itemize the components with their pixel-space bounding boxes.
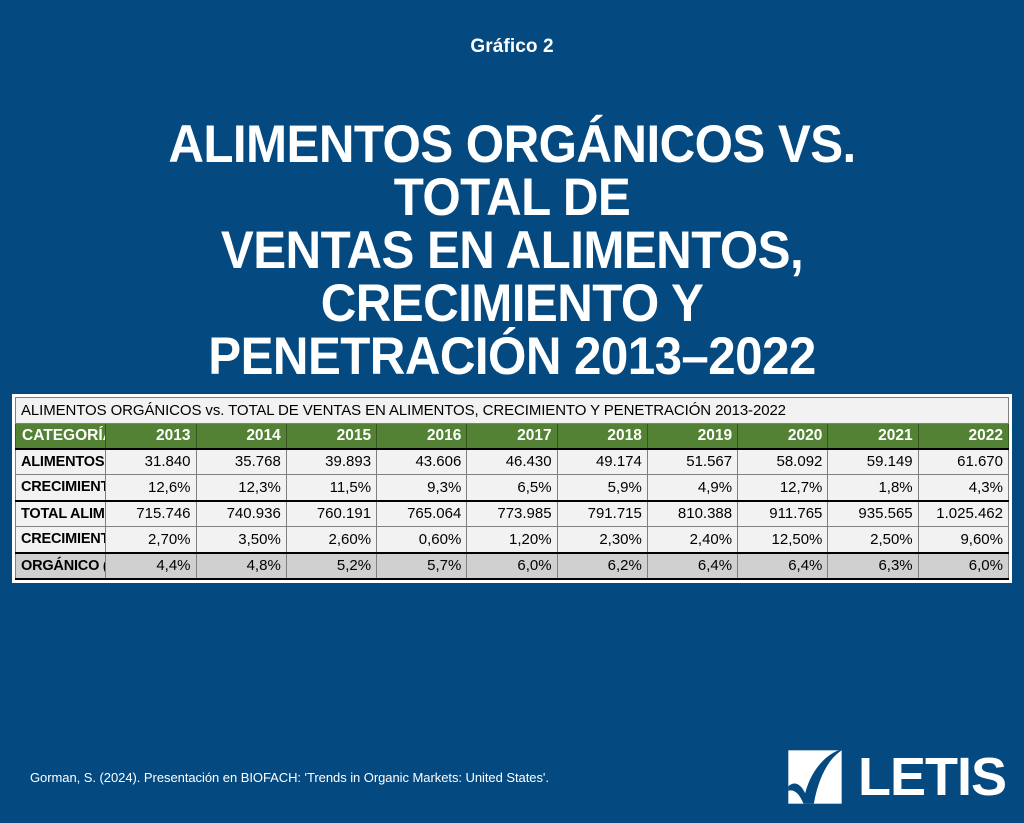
cell: 810.388 <box>647 501 737 527</box>
cell: 31.840 <box>106 449 196 475</box>
cell: 2,30% <box>557 527 647 553</box>
data-table-container: ALIMENTOS ORGÁNICOS vs. TOTAL DE VENTAS … <box>12 394 1012 583</box>
cell: 791.715 <box>557 501 647 527</box>
table-caption: ALIMENTOS ORGÁNICOS vs. TOTAL DE VENTAS … <box>16 398 1009 424</box>
cell: 6,2% <box>557 553 647 579</box>
row-label-organico-porcentaje: ORGÁNICO (como % del total) <box>16 553 106 579</box>
cell: 6,4% <box>738 553 828 579</box>
table-row: ORGÁNICO (como % del total) 4,4% 4,8% 5,… <box>16 553 1009 579</box>
column-header-categoria: CATEGORÍA <box>16 424 106 449</box>
row-label-alimentos-organicos: ALIMENTOS ORGANICOS (Bill. Dólares) <box>16 449 106 475</box>
cell: 9,3% <box>377 475 467 501</box>
cell: 715.746 <box>106 501 196 527</box>
cell: 2,50% <box>828 527 918 553</box>
cell: 5,2% <box>286 553 376 579</box>
row-label-text: CRECIMIENTO % <box>21 531 106 547</box>
cell: 11,5% <box>286 475 376 501</box>
data-table: ALIMENTOS ORGÁNICOS vs. TOTAL DE VENTAS … <box>15 397 1009 580</box>
cell: 12,50% <box>738 527 828 553</box>
cell: 2,40% <box>647 527 737 553</box>
table-row: TOTAL ALIMENTOS (Bill. Dólares) 715.746 … <box>16 501 1009 527</box>
cell: 6,4% <box>647 553 737 579</box>
column-header-2022: 2022 <box>918 424 1008 449</box>
row-label-text: CRECIMIENTO % <box>21 479 106 495</box>
cell: 773.985 <box>467 501 557 527</box>
cell: 1,8% <box>828 475 918 501</box>
column-header-2018: 2018 <box>557 424 647 449</box>
cell: 6,0% <box>467 553 557 579</box>
cell: 765.064 <box>377 501 467 527</box>
cell: 2,70% <box>106 527 196 553</box>
letis-logo: LETIS <box>786 748 1006 806</box>
row-label-text: TOTAL ALIMENTOS <box>21 506 106 522</box>
cell: 6,5% <box>467 475 557 501</box>
column-header-2019: 2019 <box>647 424 737 449</box>
table-row: CRECIMIENTO % 12,6% 12,3% 11,5% 9,3% 6,5… <box>16 475 1009 501</box>
column-header-2016: 2016 <box>377 424 467 449</box>
cell: 6,0% <box>918 553 1008 579</box>
cell: 49.174 <box>557 449 647 475</box>
row-label-crecimiento-total: CRECIMIENTO % <box>16 527 106 553</box>
column-header-2015: 2015 <box>286 424 376 449</box>
column-header-2021: 2021 <box>828 424 918 449</box>
cell: 5,9% <box>557 475 647 501</box>
cell: 39.893 <box>286 449 376 475</box>
table-caption-row: ALIMENTOS ORGÁNICOS vs. TOTAL DE VENTAS … <box>16 398 1009 424</box>
cell: 1,20% <box>467 527 557 553</box>
row-label-crecimiento-organicos: CRECIMIENTO % <box>16 475 106 501</box>
cell: 3,50% <box>196 527 286 553</box>
letis-wordmark: LETIS <box>858 750 1006 804</box>
cell: 4,3% <box>918 475 1008 501</box>
cell: 4,9% <box>647 475 737 501</box>
cell: 4,4% <box>106 553 196 579</box>
cell: 12,3% <box>196 475 286 501</box>
cell: 6,3% <box>828 553 918 579</box>
column-header-2013: 2013 <box>106 424 196 449</box>
cell: 12,7% <box>738 475 828 501</box>
cell: 43.606 <box>377 449 467 475</box>
cell: 59.149 <box>828 449 918 475</box>
table-row: CRECIMIENTO % 2,70% 3,50% 2,60% 0,60% 1,… <box>16 527 1009 553</box>
cell: 2,60% <box>286 527 376 553</box>
cell: 9,60% <box>918 527 1008 553</box>
table-header-row: CATEGORÍA 2013 2014 2015 2016 2017 2018 … <box>16 424 1009 449</box>
cell: 935.565 <box>828 501 918 527</box>
column-header-2014: 2014 <box>196 424 286 449</box>
cell: 51.567 <box>647 449 737 475</box>
cell: 46.430 <box>467 449 557 475</box>
table-row: ALIMENTOS ORGANICOS (Bill. Dólares) 31.8… <box>16 449 1009 475</box>
cell: 911.765 <box>738 501 828 527</box>
cell: 12,6% <box>106 475 196 501</box>
column-header-2017: 2017 <box>467 424 557 449</box>
figure-label: Gráfico 2 <box>0 36 1024 58</box>
cell: 760.191 <box>286 501 376 527</box>
cell: 35.768 <box>196 449 286 475</box>
row-label-text: ORGÁNICO <box>21 558 99 574</box>
cell: 58.092 <box>738 449 828 475</box>
cell: 5,7% <box>377 553 467 579</box>
cell: 61.670 <box>918 449 1008 475</box>
column-header-2020: 2020 <box>738 424 828 449</box>
row-label-total-alimentos: TOTAL ALIMENTOS (Bill. Dólares) <box>16 501 106 527</box>
cell: 0,60% <box>377 527 467 553</box>
cell: 4,8% <box>196 553 286 579</box>
source-citation: Gorman, S. (2024). Presentación en BIOFA… <box>30 770 549 785</box>
page-title: ALIMENTOS ORGÁNICOS VS. TOTAL DE VENTAS … <box>94 118 931 383</box>
cell: 740.936 <box>196 501 286 527</box>
letis-checkmark-icon <box>786 748 844 806</box>
row-label-text: ALIMENTOS ORGANICOS <box>21 454 106 470</box>
cell: 1.025.462 <box>918 501 1008 527</box>
